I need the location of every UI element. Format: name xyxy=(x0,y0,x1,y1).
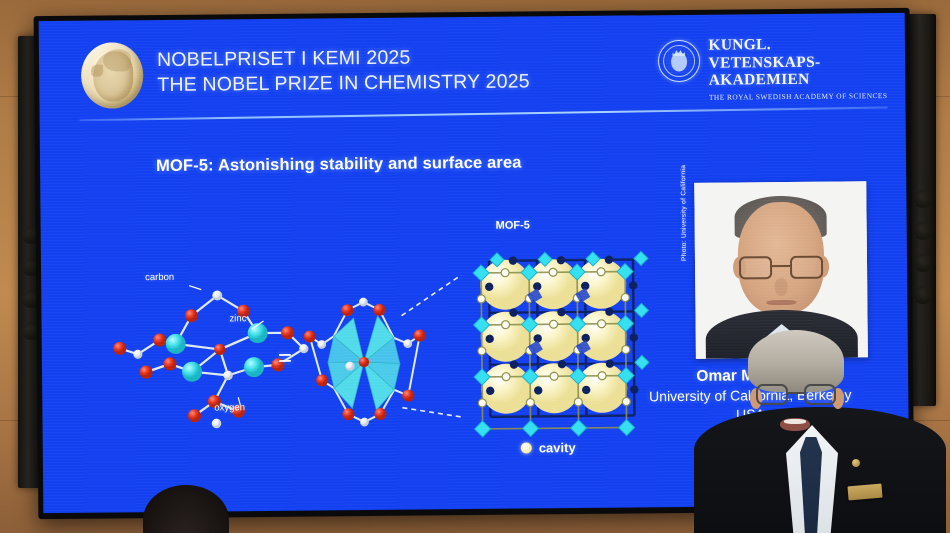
atom-label-oxygen: oxygen xyxy=(214,402,245,413)
name-badge xyxy=(847,484,882,501)
tetrahedra-cluster xyxy=(303,297,426,427)
cavity-dot-icon xyxy=(521,442,532,453)
atom-label-carbon: carbon xyxy=(145,272,174,283)
photo-scene: NOBELPRISET I KEMI 2025 THE NOBEL PRIZE … xyxy=(0,0,950,533)
atom-label-zinc: zinc xyxy=(229,313,246,324)
presenter-person xyxy=(700,330,940,533)
cavity-legend: cavity xyxy=(521,440,576,456)
lapel-pin-icon xyxy=(852,459,860,467)
photo-credit: Photo: University of California xyxy=(680,165,688,261)
equals-symbol: = xyxy=(278,345,292,373)
lattice-title-label: MOF-5 xyxy=(496,219,530,231)
cavity-legend-label: cavity xyxy=(539,440,576,455)
